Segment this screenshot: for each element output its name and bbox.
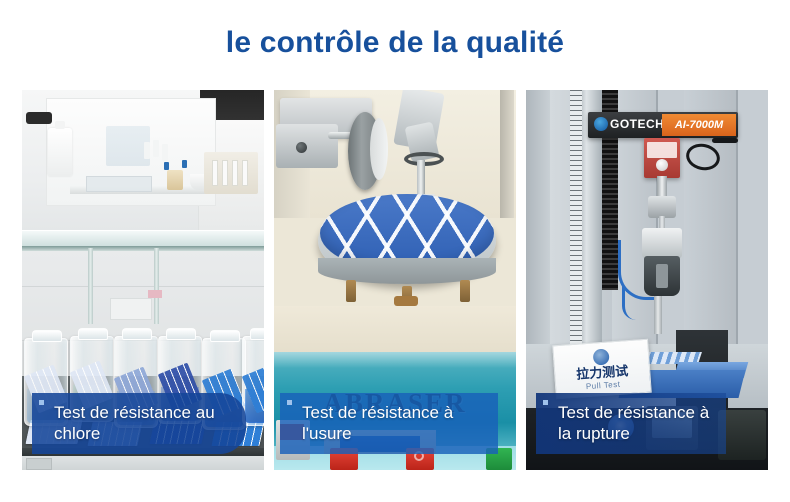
company-logo-icon (593, 348, 610, 365)
rack-bottle (232, 160, 238, 186)
caption-text: Test de résistance à l'usure (302, 403, 453, 443)
right-post (500, 90, 514, 218)
adjust-knob (296, 142, 307, 153)
caption-abrasion-resistance: Test de résistance à l'usure (280, 393, 498, 454)
glass-vial (144, 142, 150, 159)
upper-rod (657, 176, 667, 198)
amber-container (167, 170, 183, 190)
platter-foot (346, 280, 356, 302)
caption-rupture-resistance: Test de résistance à la rupture (536, 393, 726, 454)
wheel-hub (370, 118, 388, 180)
caption-chlorine-resistance: Test de résistance au chlore (32, 393, 246, 454)
platter-foot (460, 280, 470, 302)
load-cell-dial (656, 159, 668, 171)
blue-cap-bottle (182, 160, 187, 168)
white-stool (110, 298, 152, 320)
blue-cable-lower (622, 286, 648, 320)
shelf-support (154, 248, 159, 324)
caption-marker-icon (543, 400, 548, 405)
jar-lid (122, 328, 152, 340)
cabinet-seam (22, 286, 264, 287)
glass-vial (153, 140, 159, 157)
lower-rod (654, 296, 662, 334)
page-title: le contrôle de la qualité (0, 26, 790, 60)
drawer-front (26, 458, 52, 470)
rack-bottle (242, 160, 248, 186)
pink-card (148, 290, 162, 298)
machine-brand-label: GOTECH (610, 116, 664, 132)
sign-title-en: Pull Test (586, 379, 621, 390)
black-equipment-box (26, 112, 52, 124)
gotech-logo-icon (594, 117, 608, 131)
panel-rupture-resistance[interactable]: GOTECH AI-7000M (526, 90, 768, 470)
rack-bottle (212, 160, 218, 186)
caption-text: Test de résistance à la rupture (558, 403, 709, 443)
machine-model-label: AI-7000M (664, 115, 734, 135)
jar-lid (210, 330, 240, 342)
panel-abrasion-resistance[interactable]: ABRASER Test de résistance à l'usure (274, 90, 516, 470)
load-cell-label (647, 142, 677, 158)
quality-control-banner: le contrôle de la qualité (0, 0, 790, 502)
shelf-support (88, 248, 93, 324)
under-counter-cabinet (22, 456, 264, 470)
sign-title-cn: 拉力测试 (576, 364, 629, 381)
caption-marker-icon (39, 400, 44, 405)
caption-text: Test de résistance au chlore (54, 403, 215, 443)
foot-plate (394, 296, 418, 306)
rack-bottle (222, 160, 228, 186)
jar-lid (32, 330, 62, 342)
coupling-joint (648, 196, 676, 218)
caption-marker-icon (287, 400, 292, 405)
black-cable-end (712, 138, 738, 143)
pull-test-sign: 拉力测试 Pull Test (552, 339, 652, 400)
panel-highlight (274, 352, 516, 368)
jar-lid (78, 328, 108, 340)
glass-vial (162, 144, 168, 161)
jar-lid (250, 328, 264, 340)
lab-tray (86, 176, 152, 192)
test-panels-row: Test de résistance au chlore (22, 90, 768, 470)
abrader-arm-block (276, 124, 338, 168)
blue-cap-bottle (164, 162, 169, 170)
panel-chlorine-resistance[interactable]: Test de résistance au chlore (22, 90, 264, 470)
white-reagent-bottle (48, 128, 72, 176)
jar-lid (166, 328, 196, 340)
